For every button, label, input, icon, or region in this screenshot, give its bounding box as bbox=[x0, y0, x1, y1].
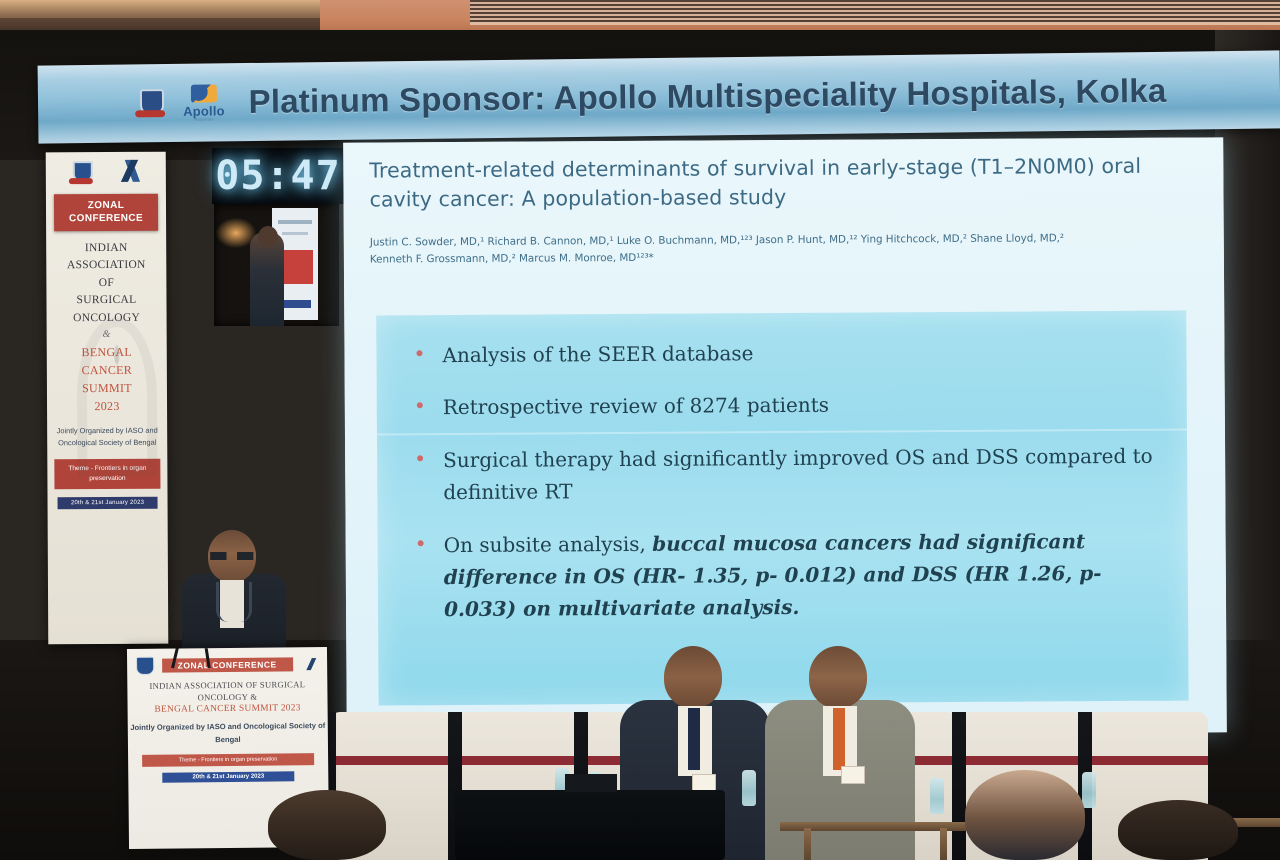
podium-zonal-conference-badge: ZONAL CONFERENCE bbox=[162, 657, 293, 672]
poster-org-line-4: SURGICAL bbox=[46, 292, 166, 310]
water-bottle bbox=[930, 778, 944, 814]
bullet-text-2: Retrospective review of 8274 patients bbox=[443, 393, 829, 419]
slide-bullet-list: Analysis of the SEER database Retrospect… bbox=[406, 335, 1158, 626]
conference-standee-poster: ZONAL CONFERENCE INDIAN ASSOCIATION OF S… bbox=[46, 152, 169, 645]
poster-org-line-2: ASSOCIATION bbox=[46, 257, 166, 275]
sponsor-logos: Apollo Hospitals bbox=[133, 84, 225, 122]
iaso-crest-logo-icon bbox=[136, 657, 154, 675]
osb-swoosh-logo-icon bbox=[301, 658, 319, 670]
poster-dates-band: 20th & 21st January 2023 bbox=[58, 497, 158, 510]
list-item: On subsite analysis, buccal mucosa cance… bbox=[408, 524, 1159, 626]
audience-head bbox=[965, 770, 1085, 860]
countdown-timer-display: 05:47 bbox=[212, 148, 344, 204]
podium-organization-name: INDIAN ASSOCIATION OF SURGICAL ONCOLOGY … bbox=[127, 678, 327, 704]
bullet-text-3: Surgical therapy had significantly impro… bbox=[443, 444, 1153, 505]
countdown-timer-value: 05:47 bbox=[215, 153, 340, 199]
bullet-text-4-lead: On subsite analysis, bbox=[444, 531, 646, 556]
poster-org-line-1: INDIAN bbox=[46, 240, 166, 258]
speaker-camera-feed bbox=[214, 204, 339, 326]
confidence-monitor bbox=[455, 790, 725, 860]
list-item: Analysis of the SEER database bbox=[406, 335, 1156, 372]
conference-hall-photo: Apollo Hospitals Platinum Sponsor: Apoll… bbox=[0, 0, 1280, 860]
audience-head bbox=[1118, 800, 1238, 860]
table-leg bbox=[940, 828, 947, 860]
iaso-crest-logo-icon bbox=[133, 86, 167, 120]
audience-head bbox=[268, 790, 386, 860]
water-bottle bbox=[1082, 772, 1096, 808]
apollo-wordmark: Apollo bbox=[183, 104, 225, 118]
poster-logos bbox=[46, 152, 166, 187]
podium-dates-band: 20th & 21st January 2023 bbox=[162, 771, 294, 782]
sponsor-banner-title: Platinum Sponsor: Apollo Multispeciality… bbox=[248, 72, 1166, 121]
bullet-text-1: Analysis of the SEER database bbox=[442, 341, 753, 367]
podium-summit-name: BENGAL CANCER SUMMIT 2023 bbox=[128, 703, 328, 715]
podium-organized-by: Jointly Organized by IASO and Oncologica… bbox=[128, 720, 328, 746]
sponsor-banner: Apollo Hospitals Platinum Sponsor: Apoll… bbox=[38, 50, 1280, 143]
poster-zonal-conference-badge: ZONAL CONFERENCE bbox=[54, 194, 158, 232]
list-item: Surgical therapy had significantly impro… bbox=[407, 440, 1157, 509]
table-leg bbox=[804, 828, 811, 860]
pip-person-head bbox=[258, 226, 278, 248]
apollo-tagline: Hospitals bbox=[194, 117, 213, 121]
osb-swoosh-logo-icon bbox=[112, 160, 144, 182]
slide-authors: Justin C. Sowder, MD,¹ Richard B. Cannon… bbox=[370, 230, 1198, 269]
poster-org-line-3: OF bbox=[46, 275, 166, 293]
air-vent-grille bbox=[470, 0, 1280, 25]
iaso-crest-logo-icon bbox=[68, 160, 94, 186]
presenter-at-podium bbox=[176, 530, 296, 660]
apollo-logo-icon: Apollo Hospitals bbox=[183, 84, 225, 122]
podium-theme-band: Theme - Frontiers in organ preservation bbox=[142, 753, 314, 767]
awareness-ribbon-watermark bbox=[77, 317, 158, 477]
water-bottle bbox=[742, 770, 756, 806]
slide-title: Treatment-related determinants of surviv… bbox=[369, 151, 1197, 214]
list-item: Retrospective review of 8274 patients bbox=[407, 387, 1157, 424]
podium-header-row: ZONAL CONFERENCE bbox=[127, 655, 327, 675]
